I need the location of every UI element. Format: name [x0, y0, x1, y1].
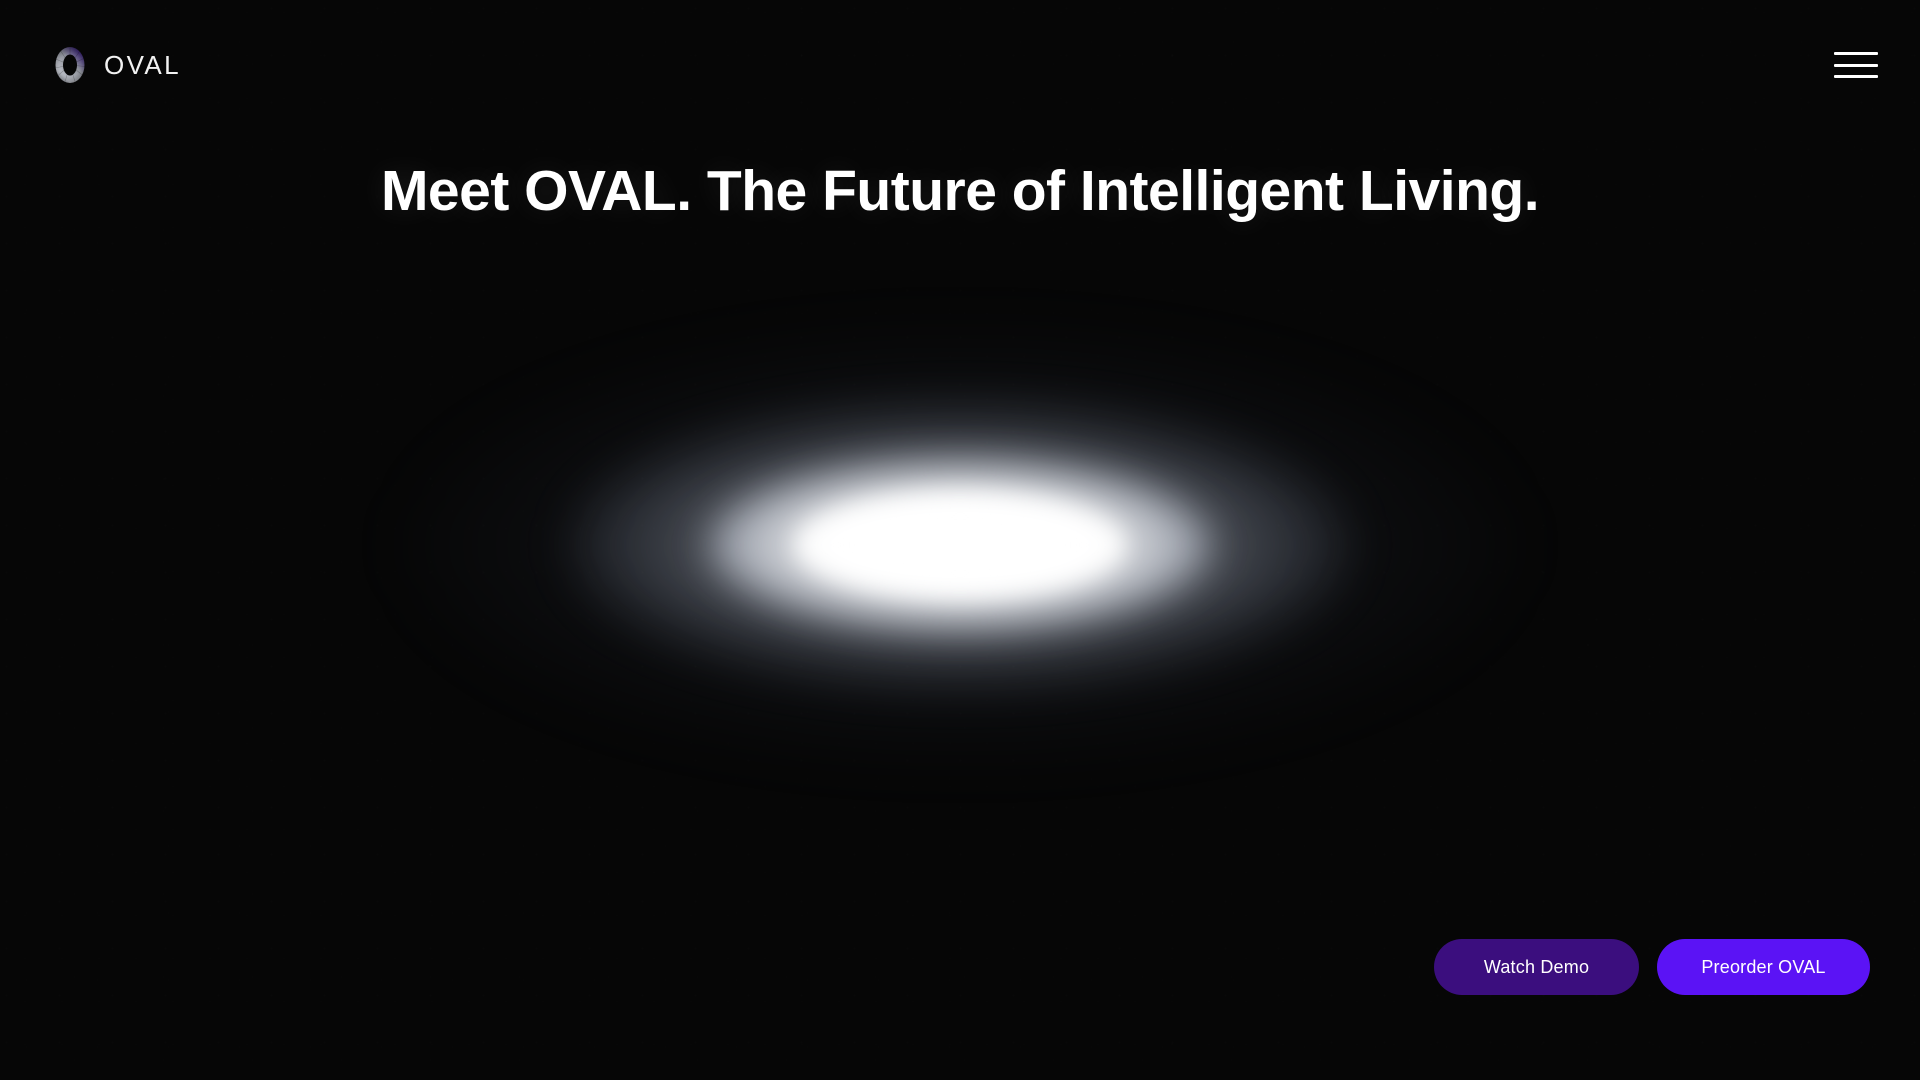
orb-inner-halo	[710, 461, 1210, 629]
orb-mid-halo	[575, 411, 1345, 679]
page-title: Meet OVAL. The Future of Intelligent Liv…	[0, 160, 1920, 223]
brand-wordmark: OVAL	[104, 52, 181, 78]
hamburger-bar-middle	[1834, 64, 1878, 67]
orb-outer-halo	[400, 330, 1520, 760]
oval-ring-logo-icon	[50, 45, 90, 85]
hamburger-bar-bottom	[1834, 75, 1878, 78]
orb-core	[795, 493, 1125, 597]
hamburger-menu-icon[interactable]	[1834, 48, 1878, 82]
preorder-oval-button[interactable]: Preorder OVAL	[1657, 939, 1870, 995]
brand-logo[interactable]: OVAL	[50, 45, 181, 85]
site-header: OVAL	[0, 0, 1920, 130]
hamburger-bar-top	[1834, 52, 1878, 55]
cta-button-group: Watch Demo Preorder OVAL	[1434, 939, 1870, 995]
watch-demo-button[interactable]: Watch Demo	[1434, 939, 1639, 995]
